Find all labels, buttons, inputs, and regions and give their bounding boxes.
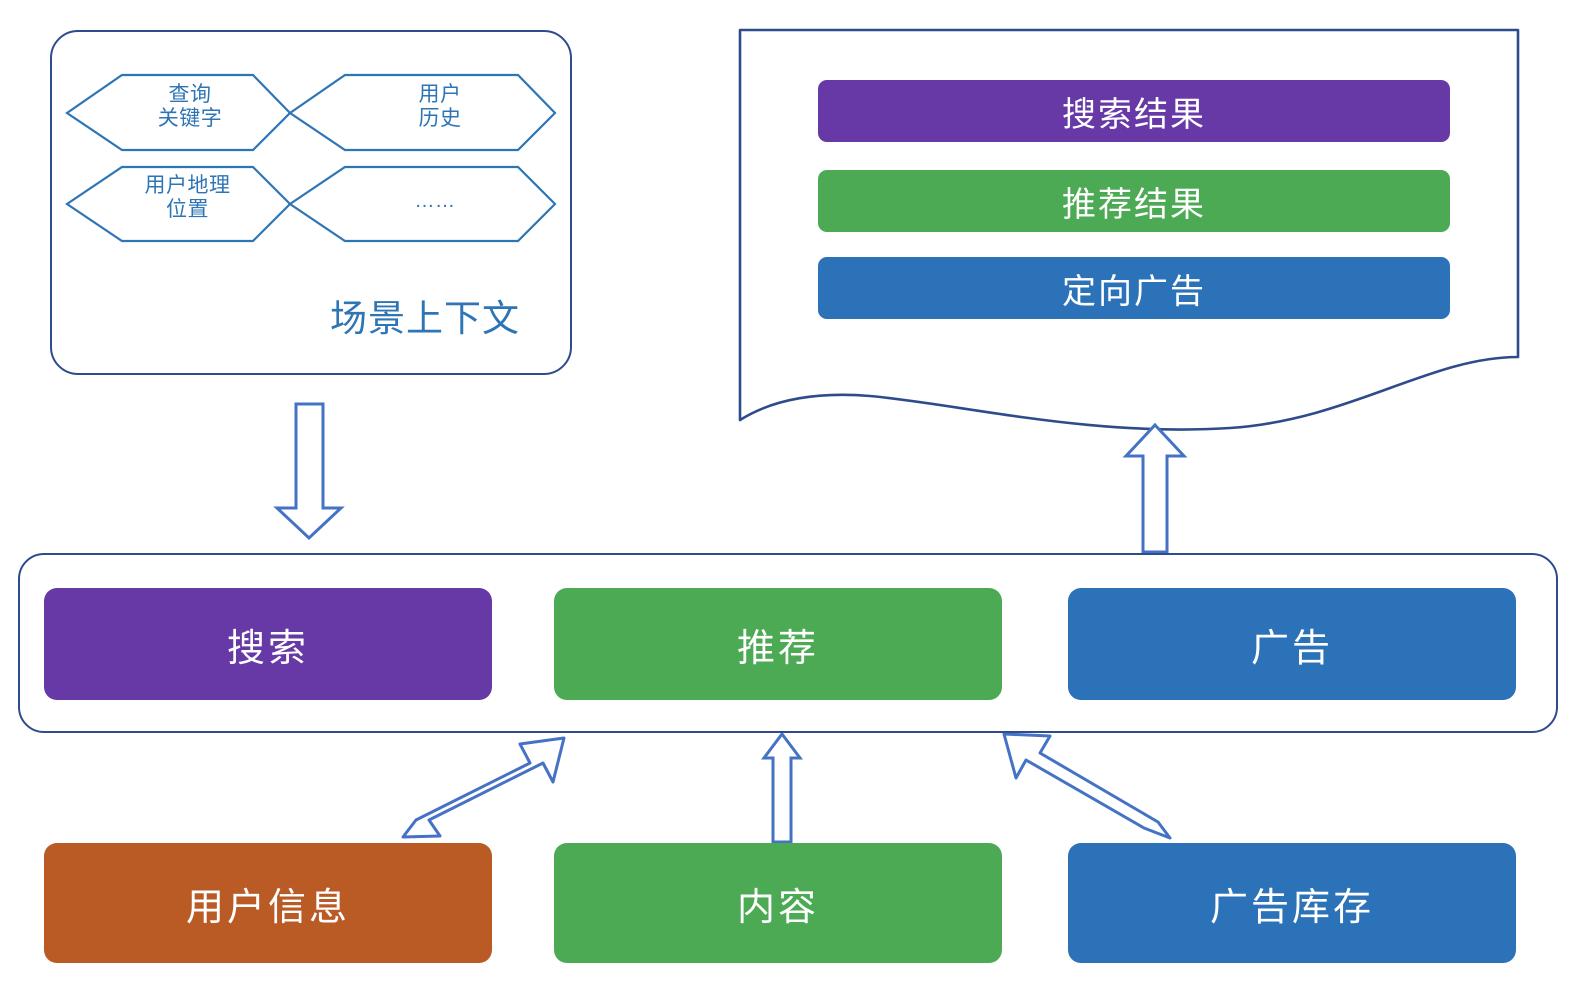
source-box-ad-inventory[interactable]: 广告库存: [1068, 843, 1516, 963]
hexagon-label-query-keyword: 查询 关键字: [110, 83, 270, 131]
arrow-content-to-recommendation: [764, 734, 800, 842]
hexagon-label-user-geo-location: 用户地理 位置: [95, 174, 280, 222]
diagram-canvas: 查询 关键字 用户 历史 用户地理 位置 …… 场景上下文 搜索结果 推荐结果 …: [0, 0, 1576, 988]
result-chip-targeted-ads[interactable]: 定向广告: [818, 257, 1450, 319]
service-box-search[interactable]: 搜索: [44, 588, 492, 700]
arrow-services-to-results: [1126, 425, 1184, 552]
hexagon-label-user-history: 用户 历史: [360, 83, 520, 131]
hexagon-label-more: ……: [355, 190, 515, 213]
source-box-content[interactable]: 内容: [554, 843, 1002, 963]
service-box-advertising[interactable]: 广告: [1068, 588, 1516, 700]
source-box-user-info[interactable]: 用户信息: [44, 843, 492, 963]
result-chip-recommendation-results[interactable]: 推荐结果: [818, 170, 1450, 232]
arrow-user-info-to-search: [403, 738, 564, 837]
context-panel-title: 场景上下文: [300, 288, 550, 342]
arrow-context-to-services: [277, 404, 341, 538]
service-box-recommendation[interactable]: 推荐: [554, 588, 1002, 700]
arrow-ad-inventory-to-advertising: [1004, 734, 1170, 838]
result-chip-search-results[interactable]: 搜索结果: [818, 80, 1450, 142]
